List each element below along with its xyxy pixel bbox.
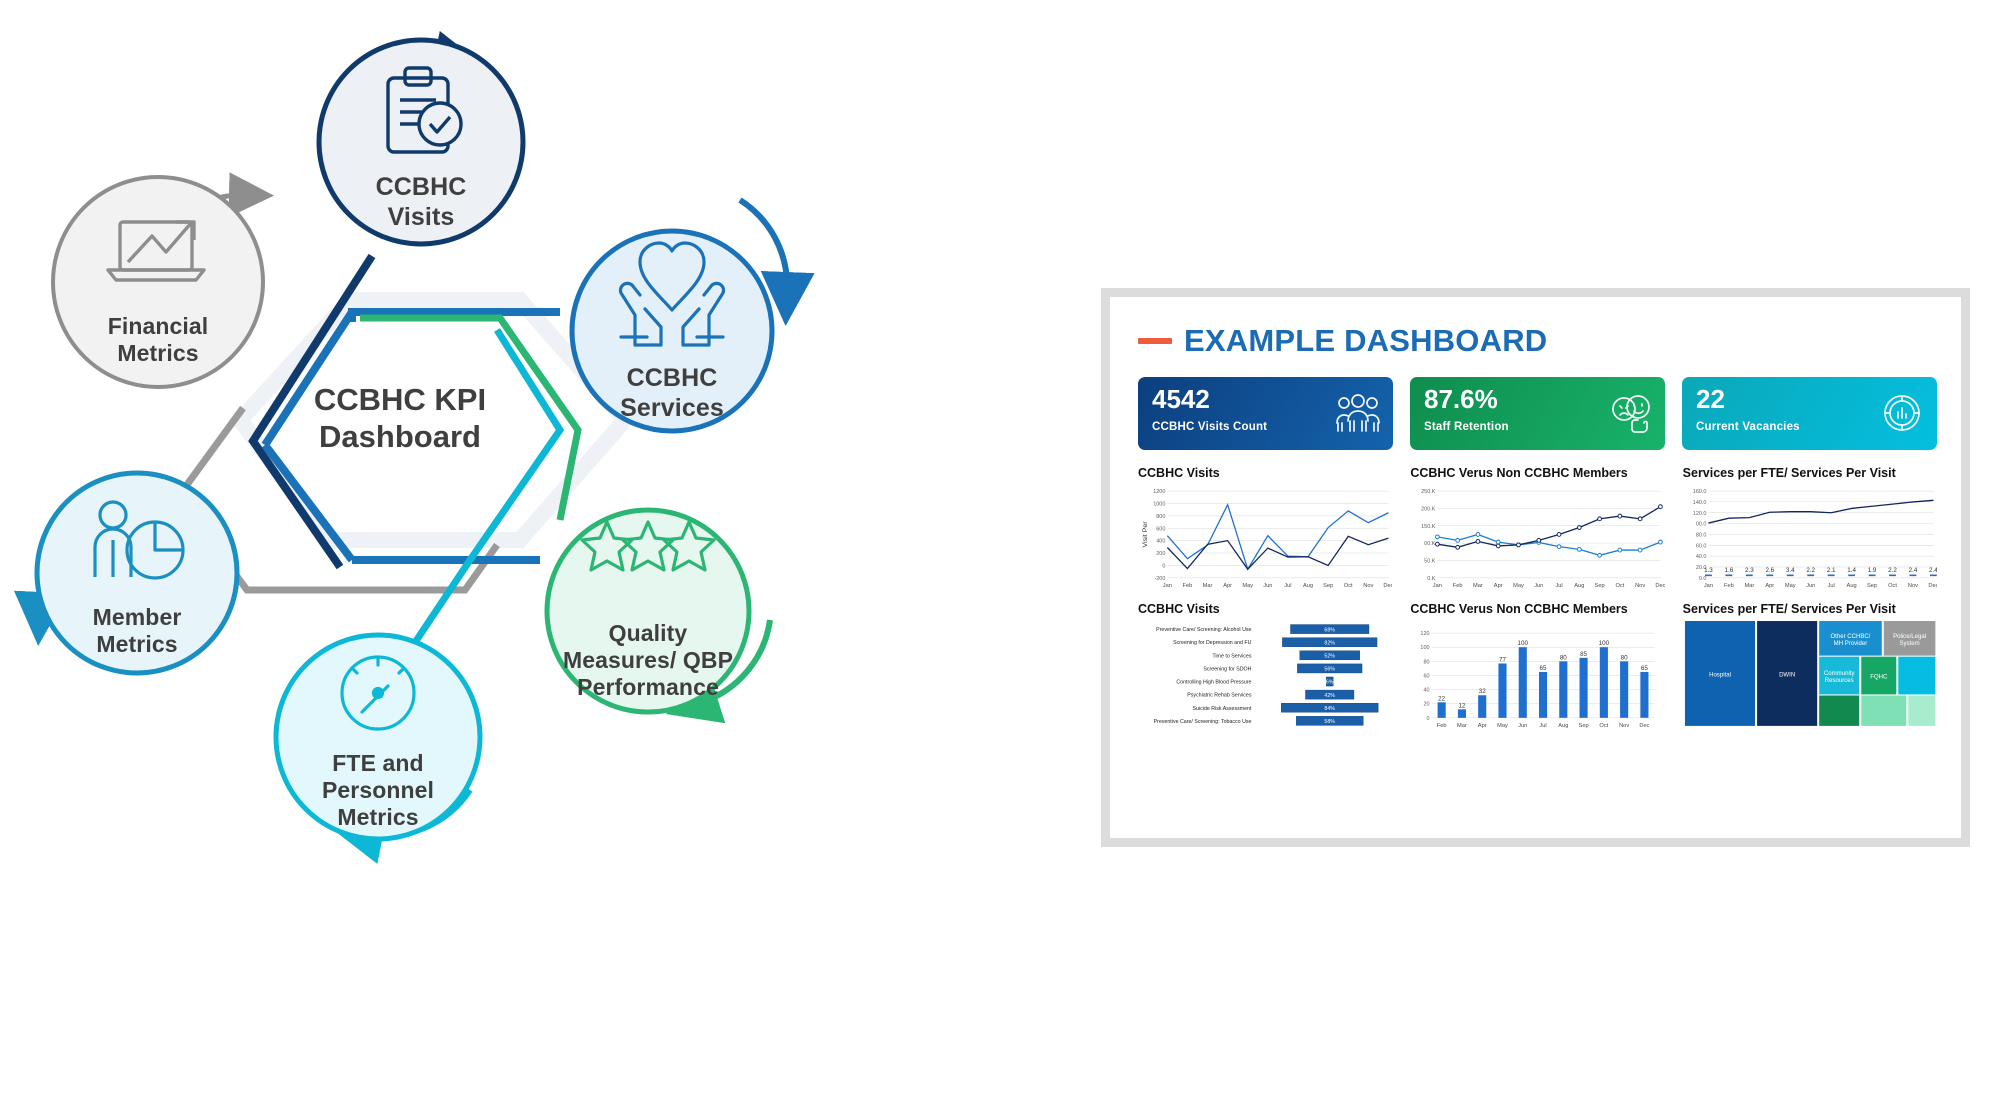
charts-grid: CCBHC Visits -200020040060080010001200Ja…	[1138, 466, 1937, 738]
group-people-icon	[1334, 389, 1382, 437]
svg-text:60: 60	[1424, 673, 1430, 679]
panel-ccbhc-vs-non-bar: CCBHC Verus Non CCBHC Members 0204060801…	[1410, 602, 1664, 738]
svg-text:Other CCHBC/: Other CCHBC/	[1830, 633, 1870, 640]
svg-text:May: May	[1513, 583, 1524, 589]
svg-text:84%: 84%	[1324, 706, 1335, 712]
svg-text:Nov: Nov	[1635, 583, 1645, 589]
svg-text:0.0: 0.0	[1699, 576, 1707, 582]
svg-text:200.K: 200.K	[1421, 506, 1436, 512]
svg-text:42%: 42%	[1324, 693, 1335, 699]
svg-text:2.2: 2.2	[1888, 567, 1897, 574]
faces-feedback-icon	[1606, 389, 1654, 437]
svg-text:FQHC: FQHC	[1870, 674, 1888, 681]
svg-text:Police/Legal: Police/Legal	[1893, 633, 1926, 640]
svg-text:Mar: Mar	[1473, 583, 1483, 589]
gauge-bars-icon	[1878, 389, 1926, 437]
svg-text:Visit Per: Visit Per	[1142, 521, 1149, 548]
panel-ccbhc-visits-bar: CCBHC Visits Preventive Care/ Screening:…	[1138, 602, 1392, 738]
svg-text:1000: 1000	[1153, 501, 1165, 507]
svg-text:-200: -200	[1154, 576, 1165, 582]
svg-text:System: System	[1899, 640, 1919, 647]
svg-text:80: 80	[1424, 659, 1430, 665]
svg-text:2.4: 2.4	[1908, 567, 1917, 574]
svg-text:Dec: Dec	[1656, 583, 1665, 589]
svg-text:Dec: Dec	[1640, 723, 1650, 729]
svg-text:20: 20	[1424, 702, 1430, 708]
node-financial-metrics[interactable]	[53, 177, 263, 387]
svg-text:250.K: 250.K	[1421, 489, 1436, 495]
svg-text:100: 100	[1518, 640, 1529, 647]
svg-text:Mar: Mar	[1203, 583, 1213, 589]
svg-text:80: 80	[1621, 654, 1628, 661]
svg-text:6%: 6%	[1326, 680, 1334, 686]
svg-text:1.6: 1.6	[1724, 567, 1733, 574]
svg-text:2.2: 2.2	[1806, 567, 1815, 574]
svg-text:2.6: 2.6	[1765, 567, 1774, 574]
panel-title: Services per FTE/ Services Per Visit	[1683, 466, 1937, 480]
svg-text:160.0: 160.0	[1692, 489, 1706, 495]
svg-text:MH Provider: MH Provider	[1833, 640, 1867, 647]
chart-ccbhc-visits-line: -200020040060080010001200JanFebMarAprMay…	[1138, 483, 1392, 594]
svg-text:52%: 52%	[1324, 653, 1335, 659]
svg-text:68%: 68%	[1324, 627, 1335, 633]
svg-text:60.0: 60.0	[1696, 543, 1707, 549]
svg-text:May: May	[1497, 723, 1508, 729]
svg-text:Nov: Nov	[1363, 583, 1373, 589]
svg-text:Screening for Depression and F: Screening for Depression and FU	[1173, 640, 1251, 646]
diagram-center-title: CCBHC KPIDashboard	[265, 382, 535, 455]
svg-text:Feb: Feb	[1437, 723, 1447, 729]
svg-text:120: 120	[1421, 631, 1430, 637]
svg-text:Nov: Nov	[1908, 583, 1918, 589]
svg-text:00.K: 00.K	[1425, 541, 1437, 547]
svg-text:Oct: Oct	[1600, 723, 1609, 729]
svg-text:00.0: 00.0	[1696, 522, 1707, 528]
svg-text:85: 85	[1580, 651, 1587, 658]
svg-text:40: 40	[1424, 688, 1430, 694]
panel-services-per-fte-line: Services per FTE/ Services Per Visit 0.0…	[1683, 466, 1937, 594]
svg-text:Screening for SDOH: Screening for SDOH	[1203, 666, 1251, 672]
svg-text:58%: 58%	[1324, 719, 1335, 725]
svg-text:2.3: 2.3	[1745, 567, 1754, 574]
svg-text:Sep: Sep	[1579, 723, 1589, 729]
svg-text:Preventive Care/ Screening: Al: Preventive Care/ Screening: Alcohol Use	[1156, 627, 1251, 633]
svg-text:80.0: 80.0	[1696, 532, 1707, 538]
node-ccbhc-visits[interactable]	[319, 40, 523, 244]
svg-text:Feb: Feb	[1724, 583, 1734, 589]
svg-text:2.1: 2.1	[1826, 567, 1835, 574]
panel-title: CCBHC Verus Non CCBHC Members	[1410, 466, 1664, 480]
svg-text:800: 800	[1156, 514, 1165, 520]
svg-text:May: May	[1785, 583, 1796, 589]
svg-text:140.0: 140.0	[1692, 500, 1706, 506]
svg-text:12: 12	[1459, 702, 1466, 709]
svg-text:Jun: Jun	[1806, 583, 1815, 589]
svg-text:Jan: Jan	[1163, 583, 1172, 589]
svg-text:82%: 82%	[1324, 640, 1335, 646]
kpi-card-current-vacancies[interactable]: 22 Current Vacancies	[1682, 377, 1937, 450]
svg-text:56%: 56%	[1324, 667, 1335, 673]
diagram-graphics	[0, 0, 1060, 1100]
svg-text:0: 0	[1162, 563, 1165, 569]
svg-text:77: 77	[1499, 656, 1506, 663]
svg-text:32: 32	[1479, 688, 1486, 695]
svg-text:100: 100	[1599, 640, 1610, 647]
svg-text:Resources: Resources	[1824, 677, 1853, 684]
svg-text:Jul: Jul	[1284, 583, 1291, 589]
svg-text:May: May	[1242, 583, 1253, 589]
svg-text:Psychiatric Rehab Services: Psychiatric Rehab Services	[1187, 693, 1252, 699]
chart-ccbhc-visits-bar: Preventive Care/ Screening: Alcohol Use6…	[1138, 619, 1392, 738]
svg-text:Sep: Sep	[1323, 583, 1333, 589]
svg-text:120.0: 120.0	[1692, 511, 1706, 517]
svg-text:Jul: Jul	[1540, 723, 1547, 729]
svg-text:Apr: Apr	[1494, 583, 1503, 589]
svg-text:1.3: 1.3	[1704, 567, 1713, 574]
svg-text:1.4: 1.4	[1847, 567, 1856, 574]
svg-text:1200: 1200	[1153, 489, 1165, 495]
svg-text:100: 100	[1421, 645, 1430, 651]
kpi-card-ccbhc-visits-count[interactable]: 4542 CCBHC Visits Count	[1138, 377, 1393, 450]
chart-services-treemap: HospitalDWINOther CCHBC/MH ProviderPolic…	[1683, 619, 1937, 738]
svg-text:400: 400	[1156, 539, 1165, 545]
svg-text:Hospital: Hospital	[1709, 671, 1731, 678]
svg-text:Sep: Sep	[1595, 583, 1605, 589]
svg-text:2.4: 2.4	[1929, 567, 1937, 574]
svg-text:1.9: 1.9	[1867, 567, 1876, 574]
svg-text:Suicide Risk Assessment: Suicide Risk Assessment	[1193, 706, 1252, 712]
svg-text:Aug: Aug	[1846, 583, 1856, 589]
svg-text:Jul: Jul	[1556, 583, 1563, 589]
svg-text:Apr: Apr	[1765, 583, 1774, 589]
svg-text:Feb: Feb	[1453, 583, 1463, 589]
title-accent-dash	[1138, 338, 1172, 344]
svg-text:65: 65	[1641, 665, 1648, 672]
svg-text:Oct: Oct	[1616, 583, 1625, 589]
panel-services-treemap: Services per FTE/ Services Per Visit Hos…	[1683, 602, 1937, 738]
svg-text:Nov: Nov	[1619, 723, 1629, 729]
svg-text:Jan: Jan	[1433, 583, 1442, 589]
svg-text:Sep: Sep	[1867, 583, 1877, 589]
node-fte-personnel[interactable]	[276, 635, 480, 839]
node-quality-measures[interactable]	[547, 510, 749, 712]
node-member-metrics[interactable]	[37, 473, 237, 673]
panel-title: CCBHC Visits	[1138, 602, 1392, 616]
svg-text:Mar: Mar	[1744, 583, 1754, 589]
svg-text:0.K: 0.K	[1428, 576, 1436, 582]
svg-text:Jun: Jun	[1535, 583, 1544, 589]
svg-text:Aug: Aug	[1575, 583, 1585, 589]
kpi-card-staff-retention[interactable]: 87.6% Staff Retention	[1410, 377, 1665, 450]
svg-text:Feb: Feb	[1183, 583, 1193, 589]
panel-ccbhc-vs-non-line: CCBHC Verus Non CCBHC Members 0.K50.K00.…	[1410, 466, 1664, 594]
svg-text:DWIN: DWIN	[1779, 671, 1795, 678]
svg-text:Mar: Mar	[1457, 723, 1467, 729]
node-ccbhc-services[interactable]	[572, 231, 772, 431]
svg-text:Apr: Apr	[1223, 583, 1232, 589]
svg-text:Community: Community	[1824, 670, 1855, 677]
dashboard-title: EXAMPLE DASHBOARD	[1184, 323, 1547, 359]
svg-text:22: 22	[1439, 695, 1446, 702]
svg-text:Controlling High Blood Pressur: Controlling High Blood Pressure	[1176, 679, 1251, 685]
chart-ccbhc-vs-non-line: 0.K50.K00.K150.K200.K250.KJanFebMarAprMa…	[1410, 483, 1664, 594]
svg-text:Oct: Oct	[1344, 583, 1353, 589]
svg-text:3.4: 3.4	[1786, 567, 1795, 574]
svg-text:600: 600	[1156, 526, 1165, 532]
kpi-card-row: 4542 CCBHC Visits Count 87.6% Staff Rete…	[1138, 377, 1937, 450]
svg-text:Jan: Jan	[1704, 583, 1713, 589]
svg-text:65: 65	[1540, 665, 1547, 672]
dashboard-header: EXAMPLE DASHBOARD	[1138, 323, 1937, 359]
ccbhc-kpi-diagram: FinancialMetrics CCBHCVisits CCBHCServic…	[0, 0, 1060, 1100]
svg-text:50.K: 50.K	[1425, 558, 1437, 564]
center-title-text: CCBHC KPIDashboard	[314, 382, 486, 454]
svg-text:Preventive Care/ Screening: To: Preventive Care/ Screening: Tobacco Use	[1154, 719, 1252, 725]
svg-text:Aug: Aug	[1303, 583, 1313, 589]
svg-text:Oct: Oct	[1888, 583, 1897, 589]
panel-title: CCBHC Verus Non CCBHC Members	[1410, 602, 1664, 616]
svg-text:200: 200	[1156, 551, 1165, 557]
chart-ccbhc-vs-non-bar: 02040608010012022Feb12Mar32Apr77May100Ju…	[1410, 619, 1664, 738]
panel-title: CCBHC Visits	[1138, 466, 1392, 480]
svg-text:Jun: Jun	[1519, 723, 1528, 729]
svg-text:40.0: 40.0	[1696, 554, 1707, 560]
panel-title: Services per FTE/ Services Per Visit	[1683, 602, 1937, 616]
svg-text:Apr: Apr	[1478, 723, 1487, 729]
svg-text:0: 0	[1427, 716, 1430, 722]
svg-text:Aug: Aug	[1559, 723, 1569, 729]
panel-ccbhc-visits-line: CCBHC Visits -200020040060080010001200Ja…	[1138, 466, 1392, 594]
svg-text:150.K: 150.K	[1421, 524, 1436, 530]
chart-services-per-fte-line: 0.020.040.060.080.000.0120.0140.0160.0Ja…	[1683, 483, 1937, 594]
svg-text:Dec: Dec	[1928, 583, 1937, 589]
svg-text:Dec: Dec	[1383, 583, 1392, 589]
svg-text:80: 80	[1560, 654, 1567, 661]
svg-text:Jun: Jun	[1263, 583, 1272, 589]
svg-text:Time to Services: Time to Services	[1212, 653, 1251, 659]
svg-text:Jul: Jul	[1827, 583, 1834, 589]
example-dashboard-panel: EXAMPLE DASHBOARD 4542 CCBHC Visits Coun…	[1101, 288, 1970, 847]
